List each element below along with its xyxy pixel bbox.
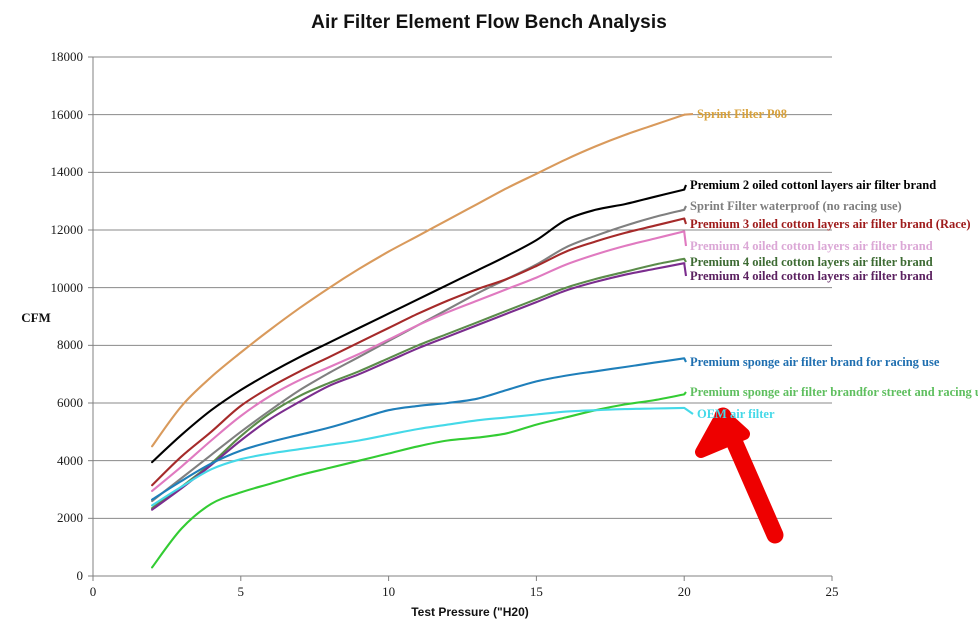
series-leader-line: [684, 408, 693, 414]
y-tick-label: 8000: [21, 337, 83, 353]
x-tick-label: 5: [221, 584, 261, 600]
y-tick-label: 6000: [21, 395, 83, 411]
x-tick-label: 20: [664, 584, 704, 600]
series-leader-line: [684, 392, 686, 394]
series-label-6: Premium 4 oiled cotton layers air filter…: [690, 269, 933, 284]
x-tick-label: 25: [812, 584, 852, 600]
series-label-9: OEM air filter: [697, 407, 775, 422]
x-axis-ticks: [93, 576, 832, 581]
series-leader-line: [684, 231, 686, 246]
red-arrow-annotation: [701, 414, 775, 535]
series-leader-line: [684, 206, 686, 210]
series-leader-line: [684, 114, 693, 115]
series-lines: [152, 114, 693, 567]
y-axis-ticks: [88, 57, 93, 576]
series-label-2: Sprint Filter waterproof (no racing use): [690, 199, 902, 214]
y-tick-label: 16000: [21, 107, 83, 123]
series-label-1: Premium 2 oiled cottonl layers air filte…: [690, 178, 936, 193]
gridlines: [93, 57, 832, 576]
series-line: [152, 210, 684, 501]
series-line: [152, 394, 684, 567]
y-tick-label: 12000: [21, 222, 83, 238]
series-label-5: Premium 4 oiled cotton layers air filter…: [690, 255, 933, 270]
series-leader-line: [684, 185, 686, 190]
series-line: [152, 231, 684, 491]
series-label-3: Premium 3 oiled cotton layers air filter…: [690, 217, 971, 232]
y-tick-label: 2000: [21, 510, 83, 526]
series-leader-line: [684, 259, 686, 262]
y-tick-label: 14000: [21, 164, 83, 180]
y-tick-label: 0: [21, 568, 83, 584]
y-tick-label: 4000: [21, 453, 83, 469]
chart-frame: Air Filter Element Flow Bench Analysis C…: [0, 0, 978, 639]
series-label-7: Premium sponge air filter brand for raci…: [690, 355, 939, 370]
series-leader-line: [684, 358, 686, 362]
series-label-0: Sprint Filter P08: [697, 107, 787, 122]
y-tick-label: 10000: [21, 280, 83, 296]
series-label-8: Premium sponge air filter brandfor stree…: [690, 385, 978, 400]
plot-canvas: [0, 0, 978, 639]
x-tick-label: 15: [516, 584, 556, 600]
series-line: [152, 259, 684, 508]
x-tick-label: 10: [369, 584, 409, 600]
series-leader-line: [684, 263, 686, 276]
x-tick-label: 0: [73, 584, 113, 600]
series-leader-line: [684, 218, 686, 224]
y-tick-label: 18000: [21, 49, 83, 65]
series-label-4: Premium 4 oiled cotton layers air filter…: [690, 239, 933, 254]
